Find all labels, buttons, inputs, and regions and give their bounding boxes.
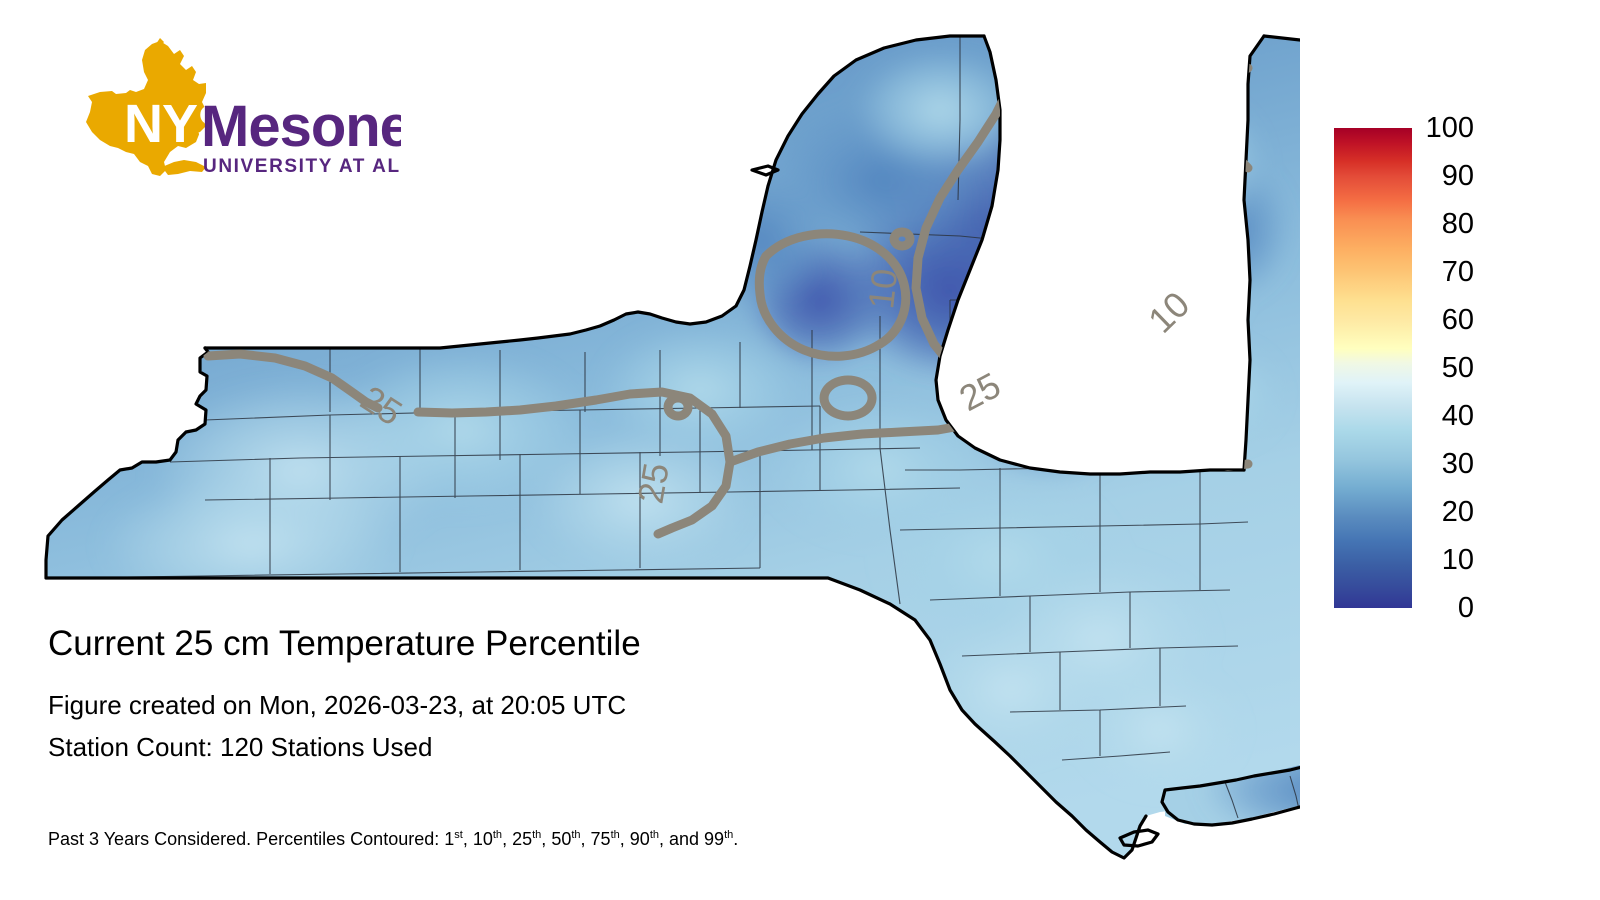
contour-25-hudson	[1032, 372, 1248, 466]
contour-label-25-c: 25	[953, 364, 1008, 419]
colorbar-tick-100: 100	[1414, 114, 1474, 143]
percentile-colorbar: 100 90 80 70 60 50 40 30 20 10 0	[1308, 118, 1588, 618]
figure-station-count-line: Station Count: 120 Stations Used	[48, 726, 1098, 768]
figure-created-line: Figure created on Mon, 2026-03-23, at 20…	[48, 684, 1098, 726]
colorbar-gradient	[1334, 128, 1412, 608]
colorbar-tick-10: 10	[1414, 546, 1474, 575]
colorbar-tick-60: 60	[1414, 306, 1474, 335]
contour-label-10-b: 10	[1140, 283, 1197, 340]
figure-footnote: Past 3 Years Considered. Percentiles Con…	[48, 828, 738, 850]
figure-page: NYS Mesonet UNIVERSITY AT ALBANY	[0, 0, 1600, 900]
colorbar-tick-0: 0	[1414, 594, 1474, 623]
colorbar-tick-30: 30	[1414, 450, 1474, 479]
figure-caption-block: Current 25 cm Temperature Percentile Fig…	[48, 622, 1098, 768]
figure-title: Current 25 cm Temperature Percentile	[48, 622, 1098, 666]
contour-10-ne-edge	[1220, 68, 1248, 168]
contour-label-10-a: 10	[860, 267, 905, 311]
colorbar-tick-40: 40	[1414, 402, 1474, 431]
colorbar-tick-70: 70	[1414, 258, 1474, 287]
colorbar-tick-20: 20	[1414, 498, 1474, 527]
contour-label-25-b: 25	[630, 460, 677, 507]
colorbar-tick-80: 80	[1414, 210, 1474, 239]
colorbar-tick-labels: 100 90 80 70 60 50 40 30 20 10 0	[1420, 118, 1586, 618]
colorbar-tick-90: 90	[1414, 162, 1474, 191]
colorbar-tick-50: 50	[1414, 354, 1474, 383]
